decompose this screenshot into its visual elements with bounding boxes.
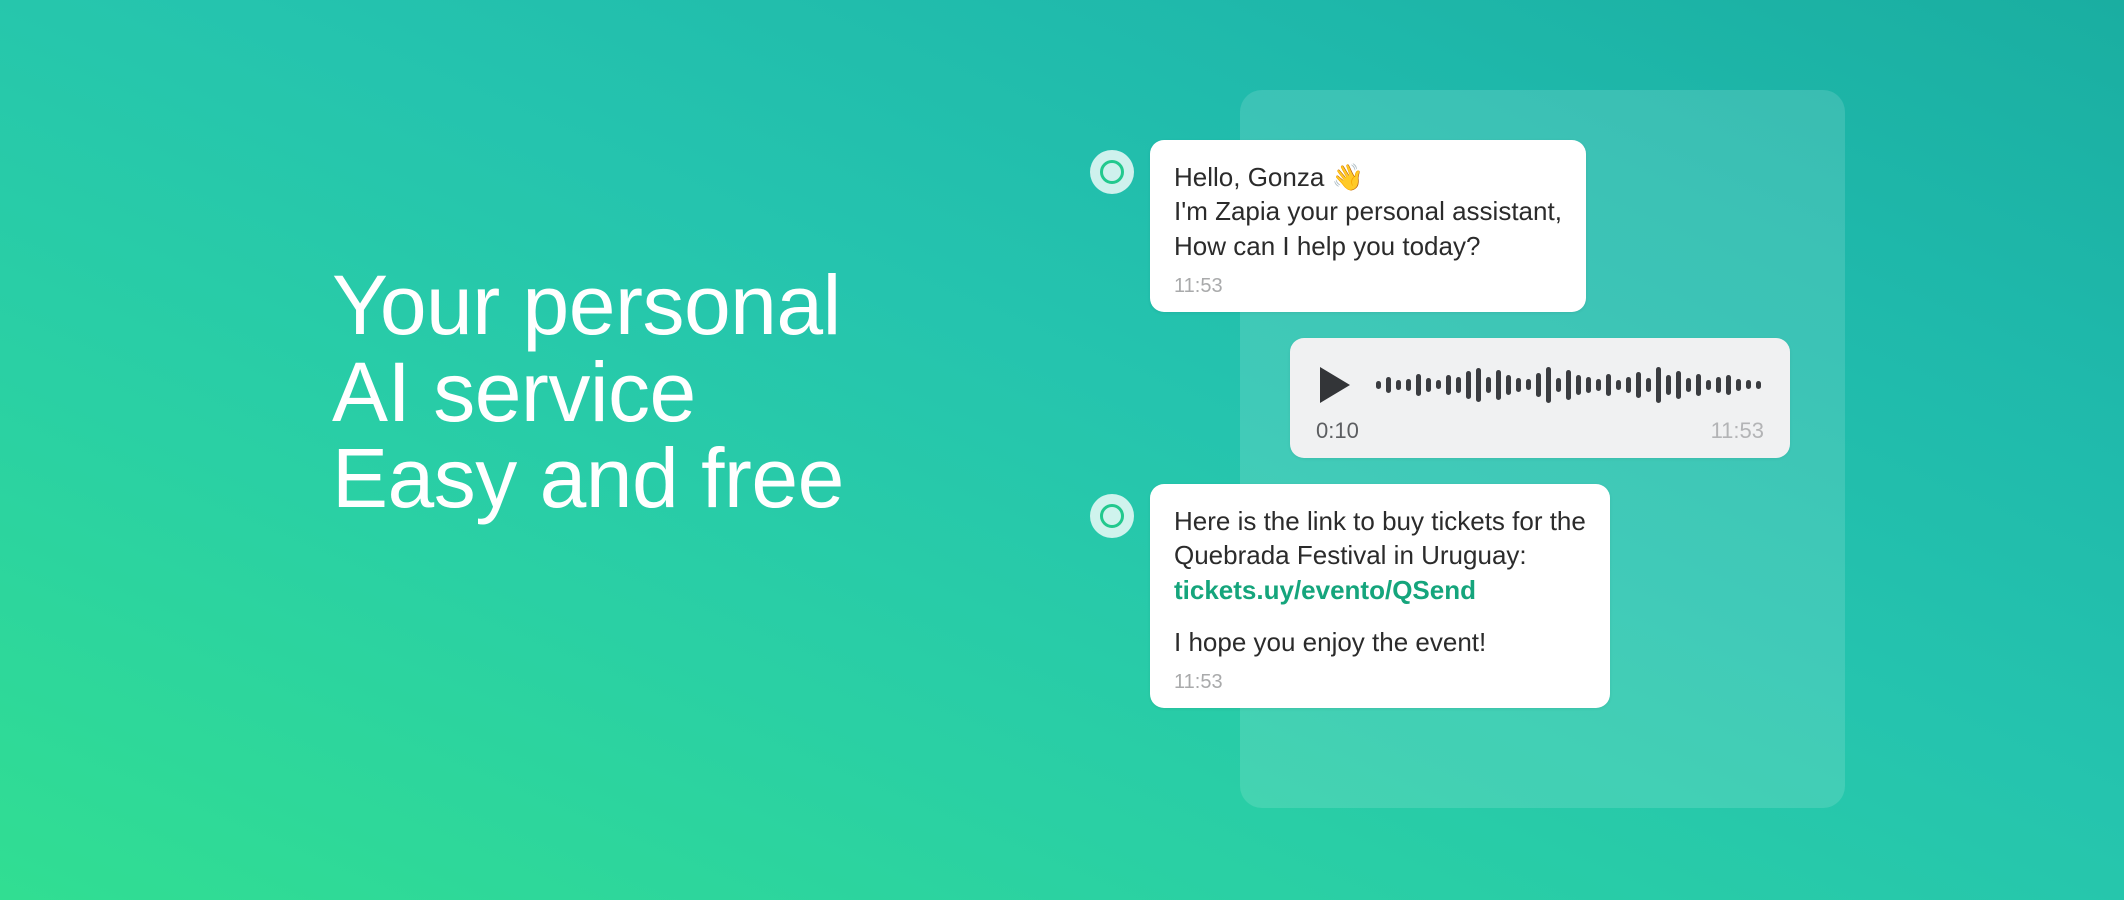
waveform-bar [1486, 377, 1491, 393]
waveform-bar [1636, 372, 1641, 398]
waveform-bar [1516, 378, 1521, 392]
message-line: How can I help you today? [1174, 229, 1562, 263]
waveform-bar [1566, 370, 1571, 400]
voice-message-bubble[interactable]: 0:10 11:53 [1290, 338, 1790, 458]
play-icon[interactable] [1320, 367, 1350, 403]
waveform-bar [1526, 379, 1531, 390]
waveform-bar [1606, 374, 1611, 396]
waveform-bar [1616, 380, 1621, 390]
chat-message-voice: 0:10 11:53 [1090, 338, 1790, 458]
message-line: Quebrada Festival in Uruguay: [1174, 538, 1586, 572]
voice-player [1316, 358, 1764, 412]
waveform-bar [1706, 380, 1711, 390]
waveform-bar [1696, 374, 1701, 396]
waveform-bar [1416, 374, 1421, 396]
waveform-bar [1596, 379, 1601, 391]
waveform-bar [1586, 377, 1591, 393]
waveform-bar [1666, 375, 1671, 395]
message-timestamp: 11:53 [1174, 671, 1586, 694]
waveform-bar [1446, 375, 1451, 395]
waveform-bar [1546, 367, 1551, 403]
message-bubble[interactable]: Hello, Gonza 👋 I'm Zapia your personal a… [1150, 140, 1586, 312]
message-line: Here is the link to buy tickets for the [1174, 504, 1586, 538]
message-timestamp: 11:53 [1174, 275, 1562, 298]
waveform-bar [1426, 378, 1431, 392]
page-headline: Your personal AI service Easy and free [332, 262, 1052, 522]
voice-meta: 0:10 11:53 [1316, 418, 1764, 444]
message-line: I'm Zapia your personal assistant, [1174, 194, 1562, 228]
waveform-bar [1436, 380, 1441, 389]
voice-duration: 0:10 [1316, 418, 1359, 444]
headline-line-1: Your personal [332, 262, 1052, 349]
headline-line-3: Easy and free [332, 435, 1052, 522]
waveform-bar [1686, 378, 1691, 392]
waveform-bar [1676, 371, 1681, 399]
waveform-bar [1756, 381, 1761, 389]
ring-shape [1100, 160, 1124, 184]
chat-message-ticket-link: Here is the link to buy tickets for the … [1090, 484, 1790, 708]
headline-line-2: AI service [332, 349, 1052, 436]
waveform-bar [1466, 371, 1471, 399]
spacer [1090, 458, 1790, 484]
message-timestamp: 11:53 [1711, 418, 1764, 444]
spacer [1090, 312, 1790, 338]
message-bubble[interactable]: Here is the link to buy tickets for the … [1150, 484, 1610, 708]
waveform-bar [1386, 377, 1391, 393]
zapia-logo-icon [1090, 150, 1134, 194]
message-link-line: tickets.uy/evento/QSend [1174, 573, 1586, 607]
chat-conversation: Hello, Gonza 👋 I'm Zapia your personal a… [1090, 140, 1790, 708]
waveform-bar [1646, 378, 1651, 392]
waveform-bar [1576, 375, 1581, 395]
waveform-bar [1406, 379, 1411, 391]
message-closing-line: I hope you enjoy the event! [1174, 625, 1586, 659]
ring-shape [1100, 504, 1124, 528]
waveform-bar [1496, 370, 1501, 400]
waveform-bar [1376, 381, 1381, 389]
zapia-logo-icon [1090, 494, 1134, 538]
waveform-bar [1476, 368, 1481, 402]
waveform-bar [1506, 375, 1511, 395]
waveform-bar [1736, 379, 1741, 391]
waveform-bar [1626, 377, 1631, 393]
waveform-bar [1456, 377, 1461, 393]
waveform-bar [1656, 367, 1661, 403]
chat-message-greeting: Hello, Gonza 👋 I'm Zapia your personal a… [1090, 140, 1790, 312]
waveform-bar [1556, 378, 1561, 392]
ticket-link[interactable]: tickets.uy/evento/QSend [1174, 575, 1476, 605]
waveform-bar [1726, 375, 1731, 395]
waveform-bar [1536, 373, 1541, 397]
waveform-bar [1746, 380, 1751, 389]
audio-waveform[interactable] [1376, 362, 1764, 408]
message-line: Hello, Gonza 👋 [1174, 160, 1562, 194]
waveform-bar [1716, 377, 1721, 393]
waveform-bar [1396, 380, 1401, 390]
